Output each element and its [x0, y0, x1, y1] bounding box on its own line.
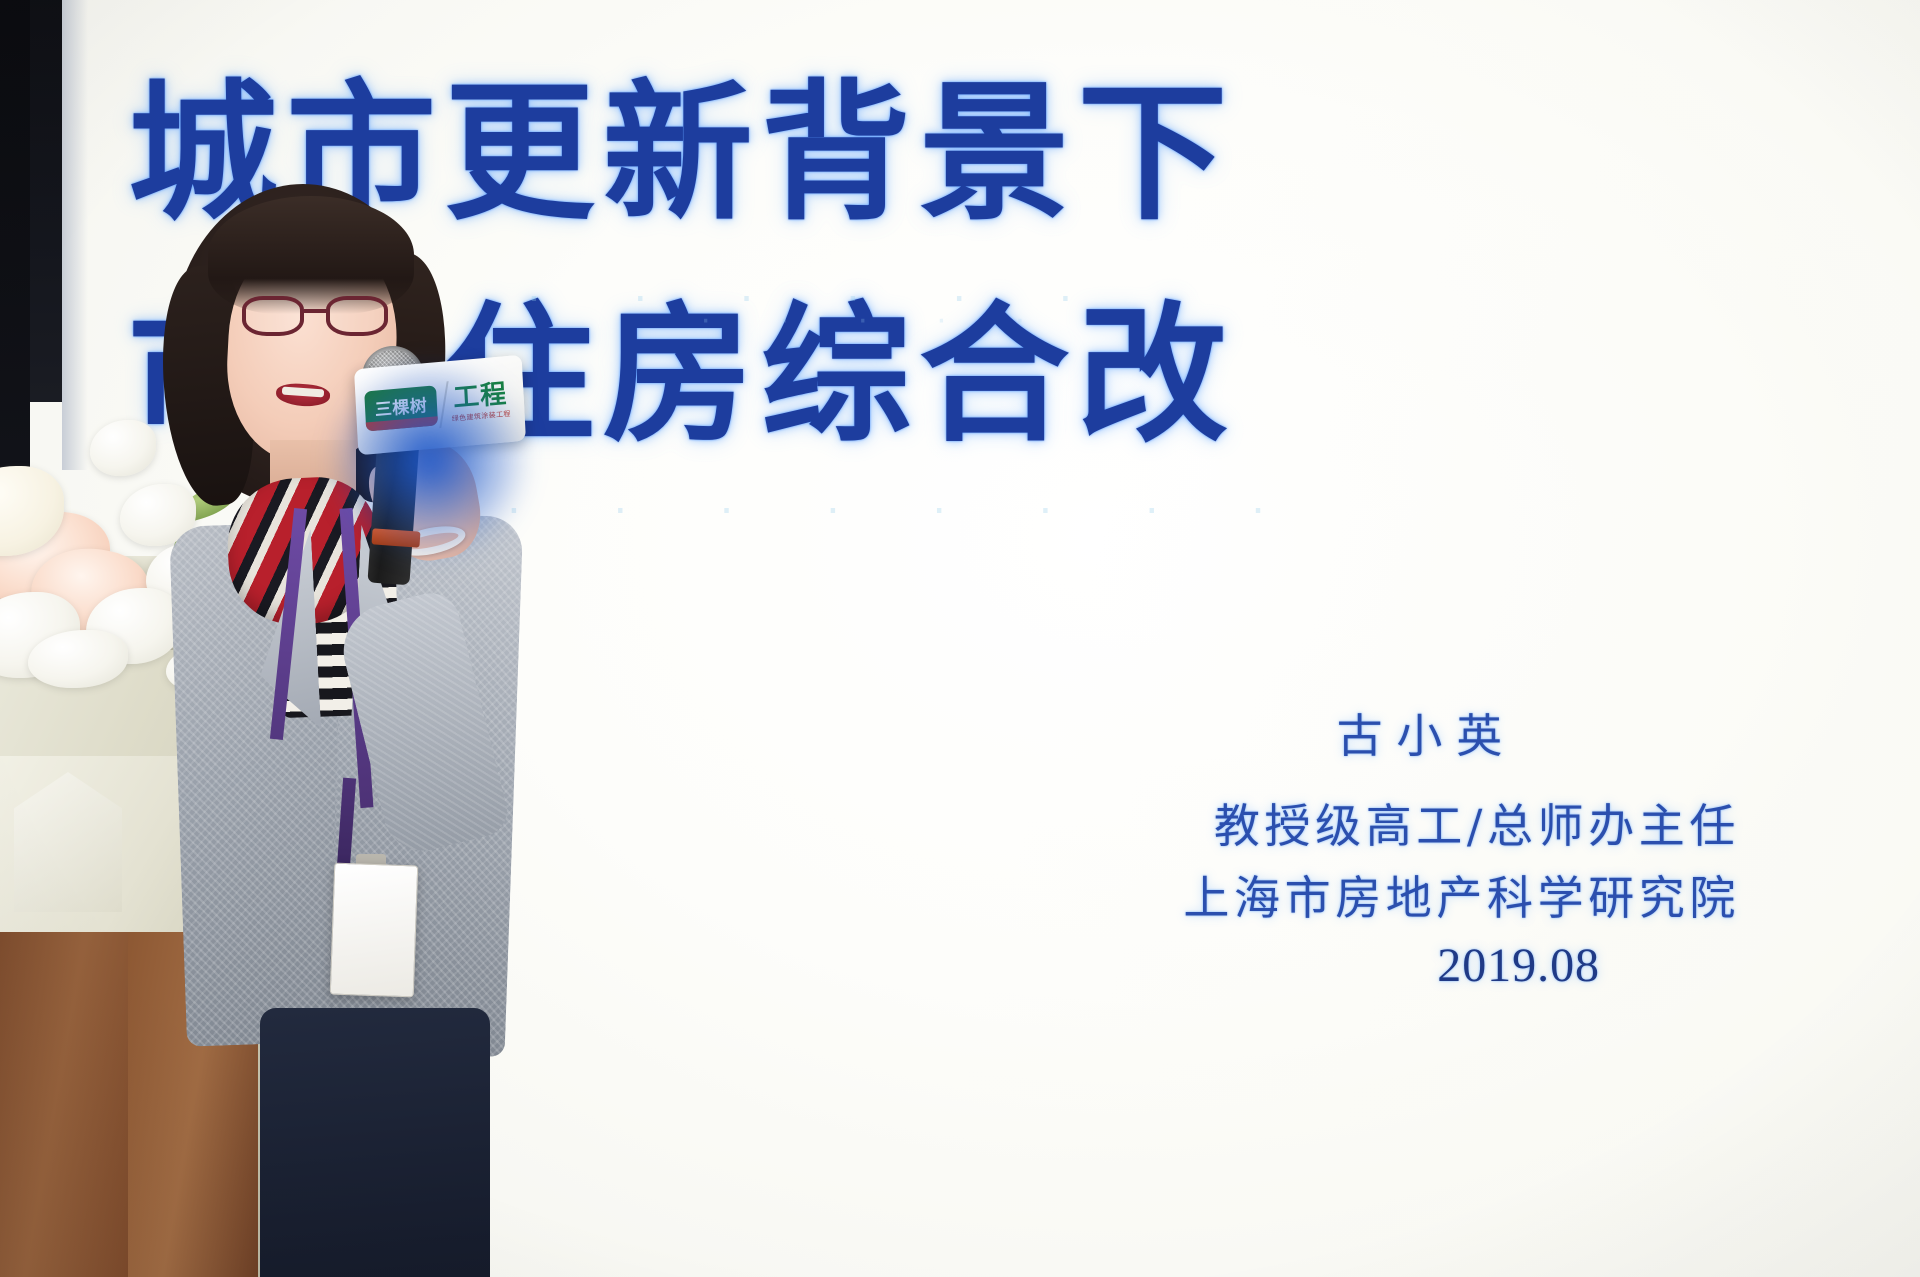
microphone-flag-logo: 三棵树 工程 绿色建筑涂装工程: [354, 355, 526, 456]
eyeglass-bridge: [304, 309, 328, 313]
name-badge: [330, 863, 419, 998]
flag-category-text: 工程: [453, 380, 508, 411]
microphone-ring: [372, 528, 421, 547]
slide-presenter-role: 教授级高工/总师办主任: [1214, 790, 1740, 856]
brand-logo-pill: 三棵树: [364, 385, 438, 431]
slide-presentation-date: 2019.08: [1437, 938, 1600, 993]
flower-blossom: [90, 420, 156, 476]
flag-category-block: 工程 绿色建筑涂装工程: [450, 379, 511, 423]
slide-faint-text-row-3: · · · · ·: [700, 300, 1055, 339]
slide-presenter-organization: 上海市房地产科学研究院: [1183, 862, 1740, 928]
eyeglass-lens-right: [326, 296, 388, 336]
speaker-person: 三棵树 工程 绿色建筑涂装工程: [150, 178, 570, 1277]
slide-presenter-name: 古小英: [1337, 700, 1516, 766]
eyeglasses: [242, 296, 396, 338]
skirt: [260, 1008, 490, 1277]
presentation-photo: 城市更新背景下 市旧住房综合改 · · · · · · · · · · · · …: [0, 0, 1920, 1277]
flag-divider: [439, 381, 448, 428]
eyeglass-lens-left: [242, 296, 304, 336]
brand-name-text: 三棵树: [374, 391, 428, 421]
